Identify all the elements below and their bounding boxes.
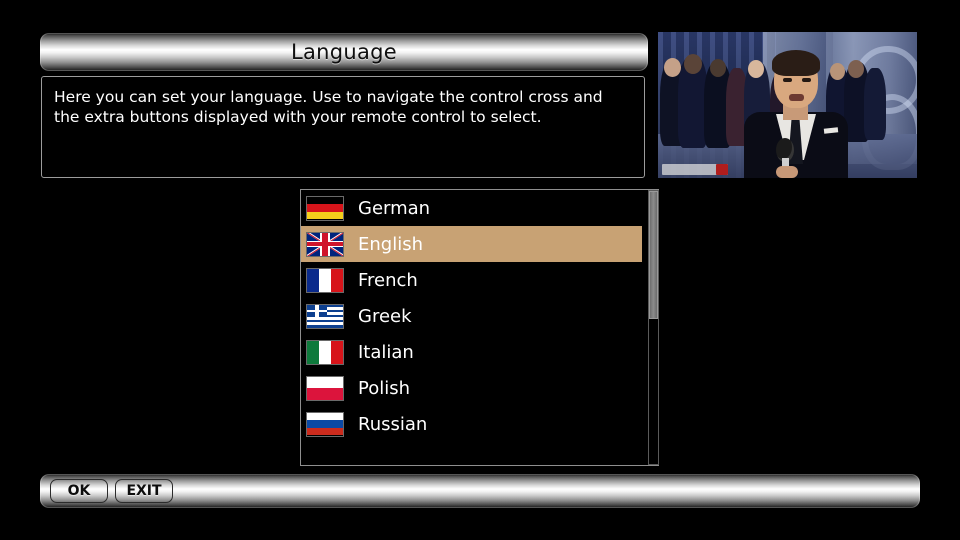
list-item-selected[interactable]: English <box>301 226 642 262</box>
video-reporter-eyebrow <box>801 72 812 75</box>
description-panel: Here you can set your language. Use to n… <box>41 76 645 178</box>
flag-italy-icon <box>306 340 344 365</box>
list-item[interactable]: Polish <box>301 370 658 406</box>
video-reporter-eye <box>802 78 811 82</box>
exit-button[interactable]: EXIT <box>115 479 173 503</box>
video-reporter-hair <box>772 50 820 76</box>
ok-button[interactable]: OK <box>50 479 108 503</box>
video-crowd-person <box>864 68 886 140</box>
list-item-label: Russian <box>358 414 427 435</box>
list-item-label: Polish <box>358 378 410 399</box>
flag-greece-icon <box>306 304 344 329</box>
list-item-label: French <box>358 270 418 291</box>
flag-germany-icon <box>306 196 344 221</box>
video-reporter-eyebrow <box>782 72 793 75</box>
list-item-label: German <box>358 198 430 219</box>
list-scrollbar-thumb[interactable] <box>649 191 658 319</box>
language-list[interactable]: German English French Greek <box>300 189 659 466</box>
flag-france-icon <box>306 268 344 293</box>
ok-button-label: OK <box>68 483 91 499</box>
video-channel-bug-badge <box>716 164 728 175</box>
video-crowd-head <box>684 54 702 74</box>
list-item-label: Greek <box>358 306 412 327</box>
video-reporter-eye <box>783 78 792 82</box>
exit-button-label: EXIT <box>126 483 161 499</box>
softkey-bar: OK EXIT <box>40 474 920 508</box>
description-text: Here you can set your language. Use to n… <box>54 87 632 127</box>
flag-russia-icon <box>306 412 344 437</box>
tv-settings-screen: Language Here you can set your language.… <box>0 0 960 540</box>
list-item-label: Italian <box>358 342 414 363</box>
title-bar: Language <box>40 33 648 71</box>
list-item[interactable]: Russian <box>301 406 658 442</box>
video-crowd-head <box>664 58 681 77</box>
list-item[interactable]: Italian <box>301 334 658 370</box>
video-crowd-head <box>710 59 726 77</box>
list-scrollbar[interactable] <box>648 190 659 465</box>
live-tv-preview[interactable] <box>658 32 917 178</box>
video-reporter-hand <box>776 166 798 178</box>
flag-united-kingdom-icon <box>306 232 344 257</box>
list-item-label: English <box>358 234 423 255</box>
list-item[interactable]: Greek <box>301 298 658 334</box>
video-crowd-head <box>830 63 845 80</box>
video-crowd-head <box>748 60 764 78</box>
list-item[interactable]: German <box>301 190 658 226</box>
flag-poland-icon <box>306 376 344 401</box>
page-title: Language <box>291 40 397 64</box>
video-reporter-mouth <box>789 94 804 101</box>
list-item[interactable]: French <box>301 262 658 298</box>
video-crowd-head <box>848 60 864 78</box>
